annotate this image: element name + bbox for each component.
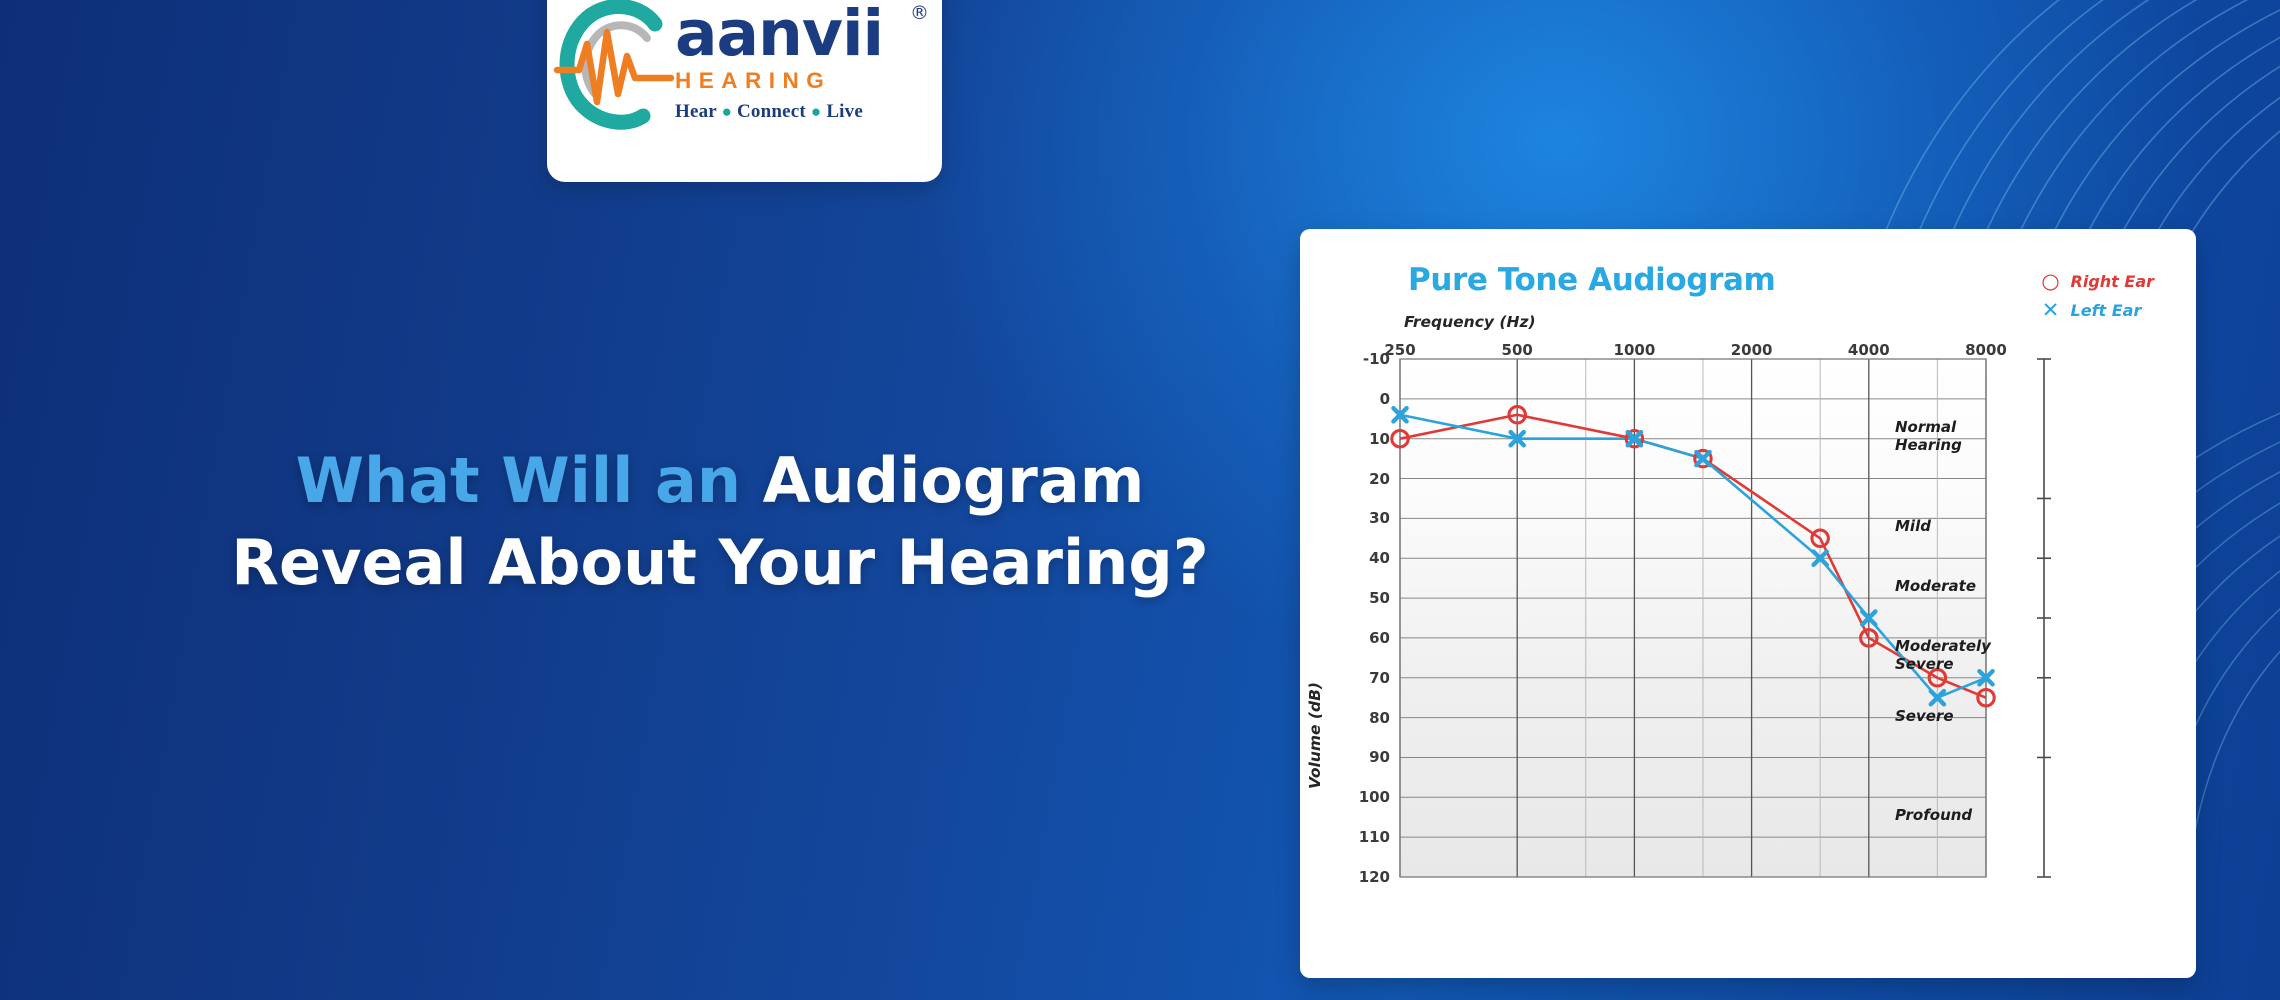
hearing-level-label-mild: Mild: [1895, 517, 1931, 535]
tagline-connect: Connect: [737, 101, 806, 122]
y-tick-0: 0: [1344, 390, 1390, 408]
x-tick-8000: 8000: [1965, 341, 2007, 359]
tagline-hear: Hear: [675, 101, 717, 122]
ear-waveform-logo-icon: [551, 0, 681, 158]
hearing-level-label-normal-hearing: NormalHearing: [1895, 418, 1962, 455]
page-title: What Will an Audiogram Reveal About Your…: [160, 440, 1280, 604]
y-tick-10: 10: [1344, 430, 1390, 448]
audiogram-card: Pure Tone Audiogram ○ Right Ear ✕ Left E…: [1300, 229, 2196, 978]
hearing-level-label-moderate: Moderate: [1895, 577, 1976, 595]
registered-trademark-icon: ®: [910, 2, 929, 24]
headline-line-1: What Will an Audiogram: [160, 440, 1280, 522]
y-tick-110: 110: [1344, 828, 1390, 846]
y-tick-90: 90: [1344, 748, 1390, 766]
y-tick-50: 50: [1344, 589, 1390, 607]
x-tick-2000: 2000: [1731, 341, 1773, 359]
y-tick-20: 20: [1344, 470, 1390, 488]
y-tick-80: 80: [1344, 709, 1390, 727]
headline-rest: Audiogram: [763, 444, 1145, 517]
x-tick-4000: 4000: [1848, 341, 1890, 359]
hearing-level-label-profound: Profound: [1895, 806, 1972, 824]
brand-logo-card: aanvii ® HEARING Hear ● Connect ● Live: [547, 0, 942, 182]
x-tick-1000: 1000: [1614, 341, 1656, 359]
y-tick-120: 120: [1344, 868, 1390, 886]
y-tick-60: 60: [1344, 629, 1390, 647]
y-tick-40: 40: [1344, 549, 1390, 567]
hearing-level-label-severe: Severe: [1895, 707, 1954, 725]
headline-accent: What Will an: [296, 444, 763, 517]
y-tick-30: 30: [1344, 509, 1390, 527]
tagline-separator-2: ●: [811, 102, 821, 121]
poster-canvas: aanvii ® HEARING Hear ● Connect ● Live W…: [0, 0, 2280, 1000]
brand-tagline: Hear ● Connect ● Live: [675, 101, 925, 123]
tagline-live: Live: [826, 101, 863, 122]
tagline-separator-1: ●: [722, 102, 732, 121]
headline-line-2: Reveal About Your Hearing?: [160, 522, 1280, 604]
x-tick-500: 500: [1502, 341, 1533, 359]
brand-subtitle: HEARING: [675, 68, 925, 94]
y-tick--10: -10: [1344, 350, 1390, 368]
hearing-level-label-moderately-severe: ModeratelySevere: [1895, 637, 1991, 674]
y-tick-100: 100: [1344, 788, 1390, 806]
y-tick-70: 70: [1344, 669, 1390, 687]
brand-name: aanvii: [675, 0, 883, 70]
plot-area-wrapper: 2505001000200040008000-10010203040506070…: [1300, 229, 2196, 978]
